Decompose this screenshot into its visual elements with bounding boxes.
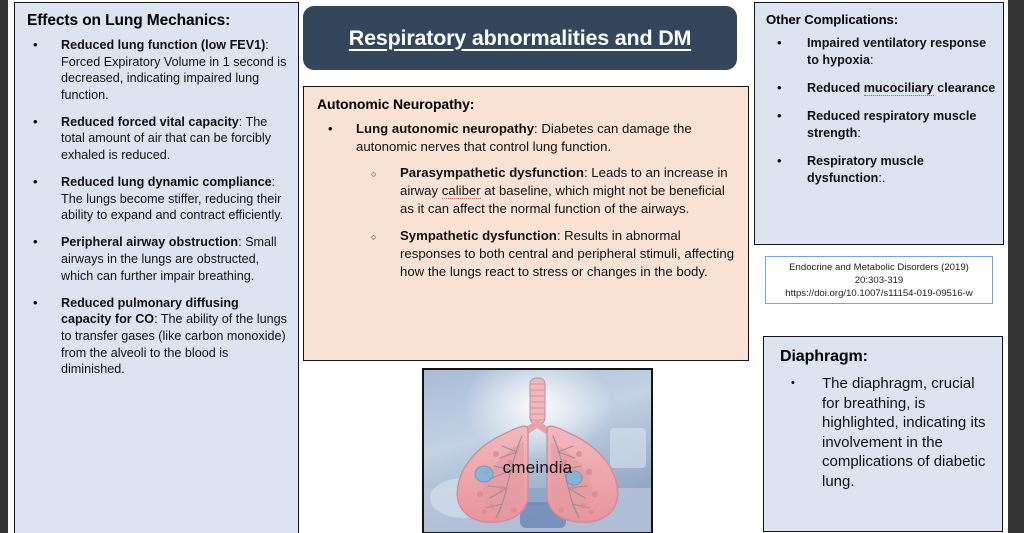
list-item: Reduced forced vital capacity: The total… <box>23 114 288 164</box>
slide-right-edge-bar <box>1008 0 1024 533</box>
slide-canvas: Effects on Lung Mechanics: Reduced lung … <box>0 0 1024 533</box>
left-panel-bullet-list: Reduced lung function (low FEV1): Forced… <box>23 37 288 378</box>
centre-panel-heading: Autonomic Neuropathy: <box>317 96 736 112</box>
bullet-lead-text: Respiratory muscle dysfunction <box>807 154 924 185</box>
list-item: Reduced pulmonary diffusing capacity for… <box>23 295 288 378</box>
bullet-lead-text: Reduced lung dynamic compliance <box>61 175 272 189</box>
effects-on-lung-mechanics-panel: Effects on Lung Mechanics: Reduced lung … <box>14 2 299 533</box>
list-item: Impaired ventilatory response to hypoxia… <box>763 35 997 69</box>
bullet-lead-text: Reduced forced vital capacity <box>61 115 239 129</box>
list-item: Peripheral airway obstruction: Small air… <box>23 234 288 284</box>
list-item: Lung autonomic neuropathy: Diabetes can … <box>314 120 736 281</box>
image-watermark-text: cmeindia <box>424 458 651 478</box>
spellcheck-flagged-word: caliber <box>442 183 481 199</box>
list-item: Respiratory muscle dysfunction:. <box>763 153 997 187</box>
list-item: The diaphragm, crucial for breathing, is… <box>774 374 994 491</box>
lung-illustration-svg <box>424 370 651 532</box>
sub-bullet-lead-text: Parasympathetic dysfunction <box>400 165 584 180</box>
bullet-lead-text: Reduced lung function (low FEV1) <box>61 38 265 52</box>
spellcheck-flagged-word: mucociliary <box>864 81 934 96</box>
slide-title-banner: Respiratory abnormalities and DM <box>303 6 737 70</box>
list-item: Reduced lung dynamic compliance: The lun… <box>23 174 288 224</box>
other-complications-panel: Other Complications: Impaired ventilator… <box>754 2 1004 245</box>
bullet-body-text: : <box>870 53 874 67</box>
slide-left-edge-bar <box>0 0 8 533</box>
lung-illustration-figure: cmeindia <box>422 368 653 533</box>
centre-panel-sub-bullet-list: Parasympathetic dysfunction: Leads to an… <box>356 164 736 281</box>
diaphragm-panel-bullet-list: The diaphragm, crucial for breathing, is… <box>774 374 994 491</box>
list-item: Sympathetic dysfunction: Results in abno… <box>356 227 736 281</box>
centre-panel-bullet-list: Lung autonomic neuropathy: Diabetes can … <box>314 120 736 281</box>
list-item: Reduced mucociliary clearance <box>763 80 997 97</box>
bullet-body-text: : <box>857 126 861 140</box>
citation-volume-pages: 20:303-319 <box>770 274 988 287</box>
bullet-body-text: :. <box>878 171 885 185</box>
list-item: Reduced lung function (low FEV1): Forced… <box>23 37 288 103</box>
page-title: Respiratory abnormalities and DM <box>349 26 691 51</box>
diaphragm-panel: Diaphragm: The diaphragm, crucial for br… <box>763 336 1003 532</box>
citation-box: Endocrine and Metabolic Disorders (2019)… <box>765 256 993 304</box>
bullet-lead-text: Reduced respiratory muscle strength <box>807 109 976 140</box>
list-item: Reduced respiratory muscle strength: <box>763 108 997 142</box>
list-item: Parasympathetic dysfunction: Leads to an… <box>356 164 736 218</box>
citation-doi-link[interactable]: https://doi.org/10.1007/s11154-019-09516… <box>770 287 988 300</box>
autonomic-neuropathy-panel: Autonomic Neuropathy: Lung autonomic neu… <box>303 86 749 361</box>
bullet-lead-text: Reduced <box>807 81 864 95</box>
right-panel-heading: Other Complications: <box>766 12 997 27</box>
diaphragm-panel-heading: Diaphragm: <box>780 348 994 366</box>
sub-bullet-lead-text: Sympathetic dysfunction <box>400 228 557 243</box>
bullet-lead-text: Peripheral airway obstruction <box>61 235 238 249</box>
bullet-lead-text: Lung autonomic neuropathy <box>356 121 534 136</box>
right-panel-bullet-list: Impaired ventilatory response to hypoxia… <box>763 35 997 187</box>
bullet-lead-text-tail: clearance <box>934 81 996 95</box>
citation-journal: Endocrine and Metabolic Disorders (2019) <box>770 261 988 274</box>
bullet-lead-text: Impaired ventilatory response to hypoxia <box>807 36 986 67</box>
left-panel-heading: Effects on Lung Mechanics: <box>27 12 288 30</box>
